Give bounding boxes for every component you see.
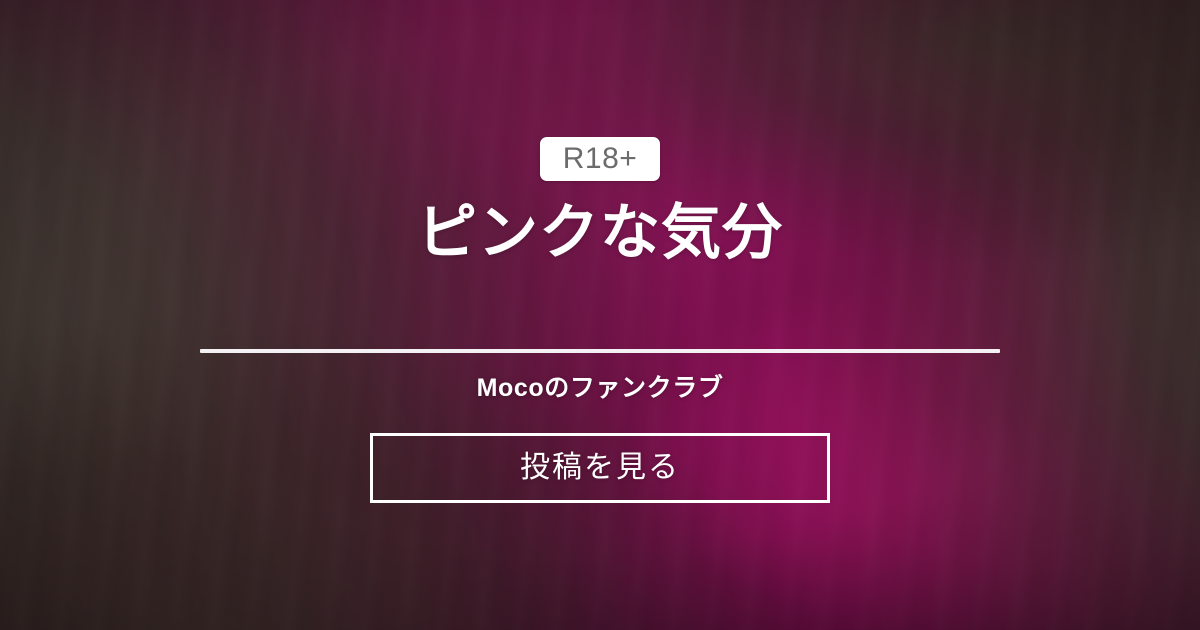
title-divider — [200, 349, 1000, 353]
age-rating-badge-label: R18+ — [563, 144, 638, 174]
subtitle: Mocoのファンクラブ — [477, 373, 724, 403]
page-title: ピンクな気分 — [417, 202, 783, 264]
card-content: R18+ ピンクな気分 Mocoのファンクラブ 投稿を見る — [0, 0, 1200, 630]
view-posts-button-label: 投稿を見る — [520, 453, 680, 483]
age-rating-badge: R18+ — [540, 137, 660, 181]
view-posts-button[interactable]: 投稿を見る — [370, 433, 830, 503]
fanclub-promo-card: R18+ ピンクな気分 Mocoのファンクラブ 投稿を見る — [0, 0, 1200, 630]
